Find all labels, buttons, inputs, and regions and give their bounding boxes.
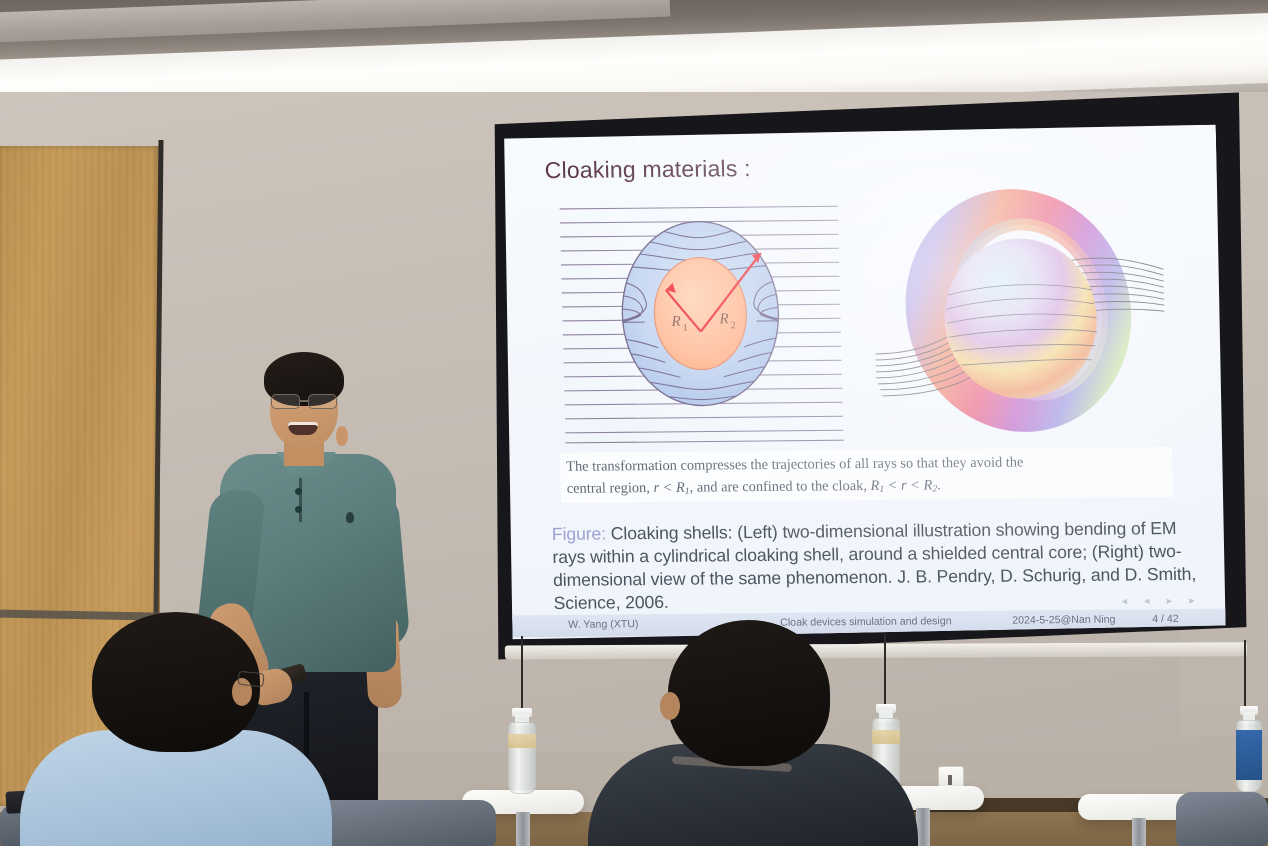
hanging-cable-center [884, 634, 886, 706]
presentation-slide: Cloaking materials : [500, 125, 1229, 640]
audience-left-glasses-icon [237, 671, 264, 688]
audience-center-head [668, 620, 830, 766]
note-line-2-end: . [937, 477, 941, 493]
audience-front-left [92, 612, 260, 846]
label-R2-sub: 2 [731, 320, 736, 331]
chair-right [1176, 792, 1268, 846]
outlet-slot [948, 775, 952, 785]
bottle-label [1236, 730, 1262, 780]
footer-page-number: 4 / 42 [1152, 613, 1179, 625]
slide-nav-controls[interactable]: ◂ ◂ ▸ ▸ [1121, 594, 1202, 608]
presenter-shirt-button-2 [295, 506, 302, 513]
label-R1-sub: 1 [683, 323, 688, 334]
note-math-2a: R [870, 478, 879, 494]
bottle-body [508, 722, 536, 794]
cloaking-shell-2d-diagram: R 1 R 2 [553, 196, 847, 447]
desk-right-leg [1132, 818, 1146, 846]
note-line-1-text: The transformation compresses the trajec… [566, 454, 1024, 474]
presenter-shirt-button-1 [295, 488, 302, 495]
hanging-cable-right [1244, 640, 1246, 708]
audience-front-center [668, 620, 830, 846]
glasses-lens-right [308, 394, 337, 409]
cloaking-shell-3d-diagram [865, 183, 1172, 448]
slide-figure-area: R 1 R 2 [553, 191, 1179, 447]
slide-note-box: The transformation compresses the trajec… [560, 447, 1173, 503]
water-bottle-right[interactable] [1236, 706, 1262, 798]
glasses-lens-left [271, 394, 300, 409]
note-math-1-text: r < R [653, 480, 685, 496]
desk-left-leg [516, 812, 530, 846]
note-line-2-pre: central region, [567, 480, 654, 497]
note-math-2: R1 < r < R2 [870, 477, 937, 494]
glasses-icon [270, 394, 340, 410]
footer-author: W. Yang (XTU) [568, 618, 639, 631]
cloaking-shell-2d-svg: R 1 R 2 [553, 196, 847, 447]
desk-center-leg [916, 808, 930, 846]
label-R1: R [670, 314, 681, 330]
figure-caption: Figure: Cloaking shells: (Left) two-dime… [552, 517, 1210, 615]
water-bottle-left[interactable] [508, 708, 536, 796]
label-R2: R [718, 311, 729, 327]
presenter-smile [288, 422, 318, 435]
footer-date: 2024-5-25@Nan Ning [1012, 614, 1116, 627]
presenter-shirt-logo [346, 512, 354, 523]
presenter-placket [299, 478, 302, 522]
projection-screen: Cloaking materials : [479, 92, 1253, 659]
lecture-room-scene: Cloaking materials : [0, 0, 1268, 846]
audience-center-ear [660, 692, 680, 720]
bottle-label [508, 734, 536, 748]
figure-caption-text: Cloaking shells: (Left) two-dimensional … [552, 518, 1196, 613]
note-line-2-mid: , and are confined to the cloak, [689, 478, 870, 496]
note-math-2b: < r < R [884, 477, 933, 493]
hanging-cable-left [521, 636, 523, 710]
bottle-label [872, 730, 900, 744]
slide-title: Cloaking materials : [544, 155, 751, 184]
figure-caption-label: Figure: [552, 523, 607, 544]
cloaking-shell-3d-svg [865, 183, 1172, 448]
note-math-1: r < R1 [653, 480, 689, 496]
presenter-ear [336, 426, 348, 446]
note-line-2: central region, r < R1, and are confined… [567, 473, 1168, 501]
